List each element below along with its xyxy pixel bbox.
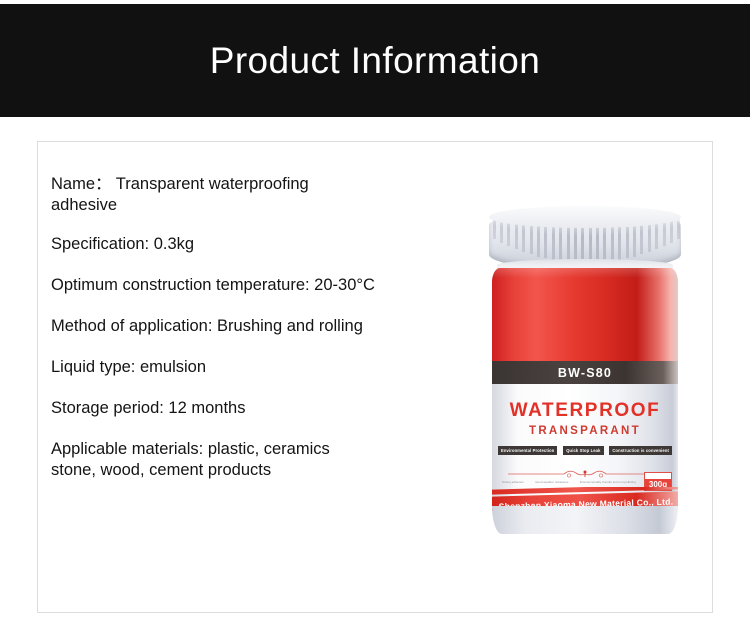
mini-feature-2: Good weather resistance (535, 480, 568, 484)
feature-badge-environmental: Environmental Protection (498, 446, 557, 455)
spec-item-name: Name： Transparent waterproofing adhesive (51, 174, 451, 216)
spec-item-specification: Specification: 0.3kg (51, 234, 451, 255)
jar-lid-top (489, 206, 681, 228)
feature-badge-quick-stop-leak: Quick Stop Leak (563, 446, 603, 455)
model-code-band: BW-S80 (492, 361, 678, 385)
mini-feature-3: Environmentally friendly and non-polluti… (580, 480, 636, 484)
mini-feature-1: Strong adhesion (502, 480, 524, 484)
ornament-divider-icon (506, 467, 664, 479)
jar-base (492, 506, 678, 534)
spec-item-materials: Applicable materials: plastic, ceramics … (51, 439, 451, 481)
product-image-jar: BW-S80 WATERPROOF TRANSPARANT Environmen… (452, 206, 722, 536)
spec-item-temperature: Optimum construction temperature: 20-30°… (51, 275, 451, 296)
spec-list: Name： Transparent waterproofing adhesive… (51, 174, 451, 501)
spec-item-liquid-type: Liquid type: emulsion (51, 357, 451, 378)
label-title-waterproof: WATERPROOF (492, 400, 678, 422)
feature-badge-construction: Construction is convenient (609, 446, 672, 455)
header-banner: Product Information (0, 4, 750, 117)
label-subtitle-transparant: TRANSPARANT (492, 425, 678, 437)
product-info-card: Name： Transparent waterproofing adhesive… (37, 141, 713, 613)
spec-item-application: Method of application: Brushing and roll… (51, 316, 451, 337)
model-code-text: BW-S80 (558, 366, 612, 380)
spec-item-storage: Storage period: 12 months (51, 398, 451, 419)
page-title: Product Information (210, 42, 540, 79)
feature-badge-row: Environmental Protection Quick Stop Leak… (498, 446, 672, 455)
